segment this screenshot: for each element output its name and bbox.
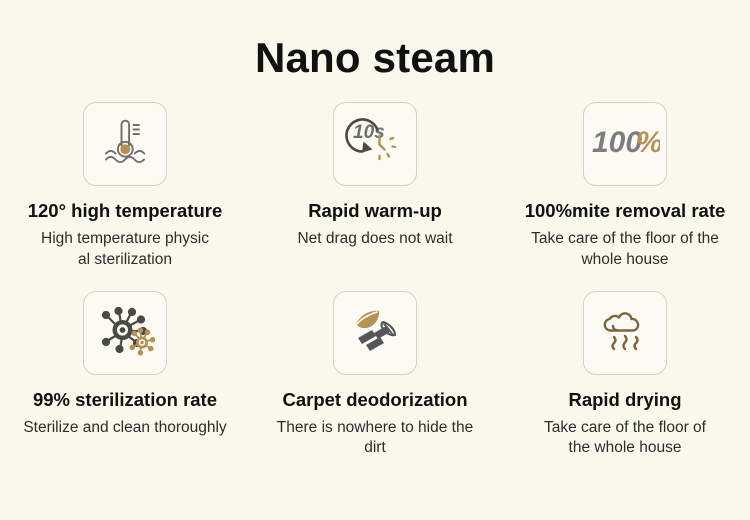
feature-title: Rapid drying xyxy=(568,389,681,411)
icon-box xyxy=(83,102,167,186)
percent-100-icon: 100 % xyxy=(590,122,660,167)
icon-box: 10s xyxy=(333,102,417,186)
thermometer-waves-icon xyxy=(95,112,155,177)
feature-description-line: Take care of the floor of xyxy=(544,418,706,439)
feature-description-line: There is nowhere to hide the dirt xyxy=(268,418,483,459)
feature-title: Rapid warm-up xyxy=(308,200,442,222)
icon-box xyxy=(83,291,167,375)
feature-card-high-temperature: 120° high temperature High temperature p… xyxy=(0,102,250,270)
feature-description-line: Net drag does not wait xyxy=(297,229,452,250)
germ-bacteria-icon xyxy=(95,300,155,365)
carpet-leaves-icon xyxy=(345,300,405,365)
feature-title: Carpet deodorization xyxy=(282,389,467,411)
page-title: Nano steam xyxy=(255,36,495,80)
icon-box: 100 % xyxy=(583,102,667,186)
feature-description: High temperature physic al sterilization xyxy=(41,229,209,270)
feature-description: Net drag does not wait xyxy=(297,229,452,250)
feature-title: 99% sterilization rate xyxy=(33,389,217,411)
feature-description: Take care of the floor of the whole hous… xyxy=(531,229,719,270)
feature-description-line: Take care of the floor of the xyxy=(531,229,719,250)
feature-card-rapid-drying: Rapid drying Take care of the floor of t… xyxy=(500,291,750,459)
feature-card-sterilization-rate: 99% sterilization rate Sterilize and cle… xyxy=(0,291,250,459)
feature-description: Sterilize and clean thoroughly xyxy=(23,418,226,439)
feature-title: 100%mite removal rate xyxy=(525,200,726,222)
feature-card-mite-removal: 100 % 100%mite removal rate Take care of… xyxy=(500,102,750,270)
drying-cloud-icon xyxy=(595,300,655,365)
feature-grid: 120° high temperature High temperature p… xyxy=(0,102,750,459)
clock-10s-icon: 10s xyxy=(345,112,405,177)
feature-description-line: High temperature physic xyxy=(41,229,209,250)
icon-box xyxy=(333,291,417,375)
feature-card-rapid-warm-up: 10s Rapid wa xyxy=(250,102,500,270)
feature-title: 120° high temperature xyxy=(28,200,223,222)
feature-description-line: the whole house xyxy=(544,438,706,459)
feature-description-line: whole house xyxy=(531,250,719,271)
feature-description-line: Sterilize and clean thoroughly xyxy=(23,418,226,439)
percent-icon-number: 100 xyxy=(592,126,642,159)
feature-highlights-page: Nano steam xyxy=(0,0,750,520)
feature-description: Take care of the floor of the whole hous… xyxy=(544,418,706,459)
feature-card-carpet-deodorization: Carpet deodorization There is nowhere to… xyxy=(250,291,500,459)
percent-icon-symbol: % xyxy=(636,126,660,159)
icon-box xyxy=(583,291,667,375)
feature-description: There is nowhere to hide the dirt xyxy=(268,418,483,459)
feature-description-line: al sterilization xyxy=(41,250,209,271)
